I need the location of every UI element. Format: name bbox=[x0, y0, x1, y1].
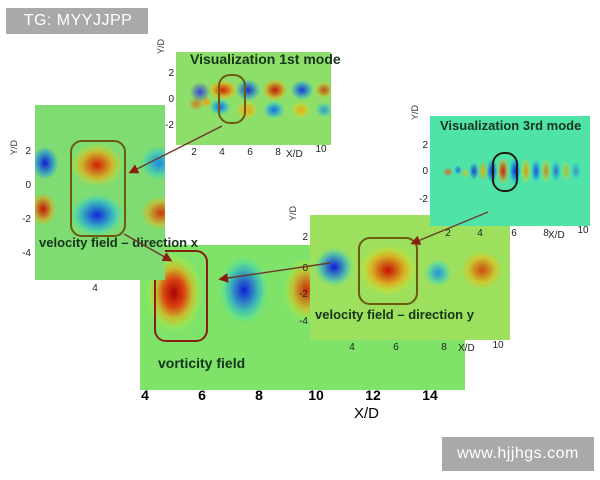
velocity-field-y-title: velocity field – direction y bbox=[315, 307, 474, 322]
mode3-title: Visualization 3rd mode bbox=[440, 118, 581, 133]
mode1-yaxis-label: Y/D bbox=[156, 39, 166, 54]
velocity-y-xtick-3: 10 bbox=[488, 340, 508, 351]
velocity-y-ytick-1: 0 bbox=[296, 263, 308, 274]
watermark-top-left: TG: MYYJJPP bbox=[6, 8, 148, 34]
velocity-y-xtick-2: 8 bbox=[434, 342, 454, 353]
mode1-ytick-0: 2 bbox=[163, 68, 174, 79]
velocity-x-ytick-2: -2 bbox=[15, 214, 31, 225]
mode1-xtick-0: 2 bbox=[186, 147, 202, 158]
vorticity-xaxis-label: X/D bbox=[354, 405, 379, 422]
figure-canvas: vorticity field 4 6 8 10 12 14 X/D veloc… bbox=[0, 0, 600, 480]
mode1-highlight-box bbox=[218, 74, 246, 124]
velocity-y-xtick-1: 6 bbox=[386, 342, 406, 353]
vorticity-xtick-2: 8 bbox=[244, 387, 274, 403]
mode1-title: Visualization 1st mode bbox=[190, 51, 341, 67]
mode1-xtick-2: 6 bbox=[242, 147, 258, 158]
panel-visualization-1st-mode: Visualization 1st mode Y/D 2 0 -2 2 4 6 … bbox=[176, 52, 331, 145]
vorticity-xtick-3: 10 bbox=[301, 387, 331, 403]
mode1-xtick-3: 8 bbox=[270, 147, 286, 158]
panel-velocity-field-x: velocity field – direction x Y/D 2 0 -2 … bbox=[35, 105, 165, 280]
velocity-y-xaxis-label: X/D bbox=[458, 343, 475, 354]
mode3-xtick-4: 10 bbox=[574, 225, 592, 236]
velocity-y-yaxis-label: Y/D bbox=[288, 206, 298, 221]
mode3-ytick-0: 2 bbox=[417, 140, 428, 151]
mode1-xaxis-label: X/D bbox=[286, 149, 303, 160]
mode1-xtick-1: 4 bbox=[214, 147, 230, 158]
velocity-x-ytick-3: -4 bbox=[15, 248, 31, 259]
mode3-xtick-1: 4 bbox=[472, 228, 488, 239]
mode1-ytick-1: 0 bbox=[163, 94, 174, 105]
vorticity-xtick-1: 6 bbox=[187, 387, 217, 403]
velocity-y-xtick-0: 4 bbox=[342, 342, 362, 353]
watermark-bottom-right: www.hjjhgs.com bbox=[442, 437, 594, 471]
velocity-y-ytick-2: -2 bbox=[294, 289, 308, 300]
velocity-y-highlight-box bbox=[358, 237, 418, 305]
mode1-xtick-4: 10 bbox=[312, 144, 330, 155]
mode3-xtick-0: 2 bbox=[440, 228, 456, 239]
velocity-field-x-title: velocity field – direction x bbox=[39, 233, 198, 252]
vorticity-xtick-5: 14 bbox=[415, 387, 445, 403]
velocity-y-ytick-3: -4 bbox=[294, 316, 308, 327]
vorticity-xtick-0: 4 bbox=[130, 387, 160, 403]
mode3-ytick-2: -2 bbox=[415, 194, 428, 205]
mode3-xtick-2: 6 bbox=[506, 228, 522, 239]
panel-visualization-3rd-mode: Visualization 3rd mode Y/D 2 0 -2 2 4 6 … bbox=[430, 116, 590, 226]
vorticity-xtick-4: 12 bbox=[358, 387, 388, 403]
mode3-ytick-1: 0 bbox=[417, 166, 428, 177]
velocity-x-ytick-0: 2 bbox=[17, 146, 31, 157]
mode3-highlight-box bbox=[492, 152, 518, 192]
velocity-x-xtick-0: 4 bbox=[85, 283, 105, 294]
velocity-x-ytick-1: 0 bbox=[17, 180, 31, 191]
mode1-ytick-2: -2 bbox=[161, 120, 174, 131]
mode3-yaxis-label: Y/D bbox=[410, 105, 420, 120]
vorticity-field-title: vorticity field bbox=[158, 355, 245, 371]
velocity-y-ytick-0: 2 bbox=[296, 232, 308, 243]
velocity-x-highlight-box bbox=[70, 140, 126, 237]
mode3-xaxis-label: X/D bbox=[548, 230, 565, 241]
